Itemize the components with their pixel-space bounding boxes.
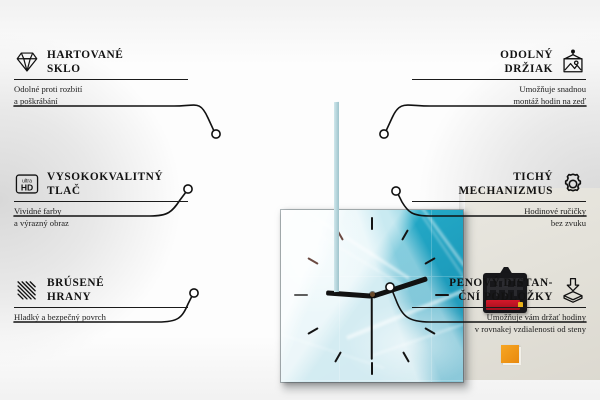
- feature-divider: [412, 79, 586, 80]
- feature-silent-mechanism[interactable]: TICHÝ MECHANIZMUS Hodinové ručičky bez z…: [412, 170, 586, 229]
- foam-spacer-pad: [501, 345, 519, 363]
- feature-desc-line2: montáž hodin na zeď: [412, 96, 586, 107]
- feature-divider: [412, 307, 586, 308]
- feature-title: TICHÝ MECHANIZMUS: [458, 170, 553, 198]
- clock-hub: [370, 292, 375, 297]
- tick-6: [371, 362, 373, 375]
- feature-ground-edges[interactable]: BRÚSENÉ HRANY Hladký a bezpečný povrch: [14, 276, 188, 324]
- feature-header: ultra HD VYSOKOKVALITNÝ TLAČ: [14, 170, 188, 198]
- ultra-hd-icon: ultra HD: [14, 171, 40, 197]
- picture-hanger-icon: [560, 49, 586, 75]
- feature-divider: [412, 201, 586, 202]
- feature-title: HARTOVANÉ SKLO: [47, 48, 123, 76]
- feature-desc-line2: a poškrábání: [14, 96, 188, 107]
- feature-header: TICHÝ MECHANIZMUS: [412, 170, 586, 198]
- feature-desc-line2: a výrazný obraz: [14, 218, 188, 229]
- second-hand: [371, 296, 373, 360]
- clock-glass-edge: [334, 102, 339, 292]
- infographic-canvas: HARTOVANÉ SKLO Odolné proti rozbití a po…: [0, 0, 600, 400]
- feature-desc-line1: Umožňuje snadnou: [412, 84, 586, 95]
- feature-divider: [14, 201, 188, 202]
- diamond-icon: [14, 49, 40, 75]
- feature-divider: [14, 79, 188, 80]
- feature-header: BRÚSENÉ HRANY: [14, 276, 188, 304]
- tick-12: [371, 217, 373, 230]
- feature-title: VYSOKOKVALITNÝ TLAČ: [47, 170, 163, 198]
- feature-title: ODOLNÝ DRŽIAK: [500, 48, 553, 76]
- feature-desc-line1: Odolné proti rozbití: [14, 84, 188, 95]
- feature-desc-line1: Hodinové ručičky: [412, 206, 586, 217]
- feature-foam-spacers[interactable]: PENOVÝ DISTAN- ČNÍ PODLOŽKY Umožňuje vám…: [412, 276, 586, 335]
- ultra-hd-large-label: HD: [21, 183, 33, 193]
- feature-title: PENOVÝ DISTAN- ČNÍ PODLOŽKY: [449, 276, 553, 304]
- feature-high-quality-print[interactable]: ultra HD VYSOKOKVALITNÝ TLAČ Vividné far…: [14, 170, 188, 229]
- feature-title: BRÚSENÉ HRANY: [47, 276, 104, 304]
- feature-header: PENOVÝ DISTAN- ČNÍ PODLOŽKY: [412, 276, 586, 304]
- feature-header: HARTOVANÉ SKLO: [14, 48, 188, 76]
- gear-icon: [560, 171, 586, 197]
- feature-durable-hanger[interactable]: ODOLNÝ DRŽIAK Umožňuje snadnou montáž ho…: [412, 48, 586, 107]
- feature-tempered-glass[interactable]: HARTOVANÉ SKLO Odolné proti rozbití a po…: [14, 48, 188, 107]
- feature-desc-line1: Hladký a bezpečný povrch: [14, 312, 188, 323]
- press-down-pads-icon: [560, 277, 586, 303]
- feature-desc-line1: Umožňuje vám držať hodiny: [412, 312, 586, 323]
- feature-desc-line2: bez zvuku: [412, 218, 586, 229]
- feature-header: ODOLNÝ DRŽIAK: [412, 48, 586, 76]
- feature-desc-line1: Vividné farby: [14, 206, 188, 217]
- feature-divider: [14, 307, 188, 308]
- feature-desc-line2: v rovnakej vzdialenosti od steny: [412, 324, 586, 335]
- bevelled-edge-icon: [14, 277, 40, 303]
